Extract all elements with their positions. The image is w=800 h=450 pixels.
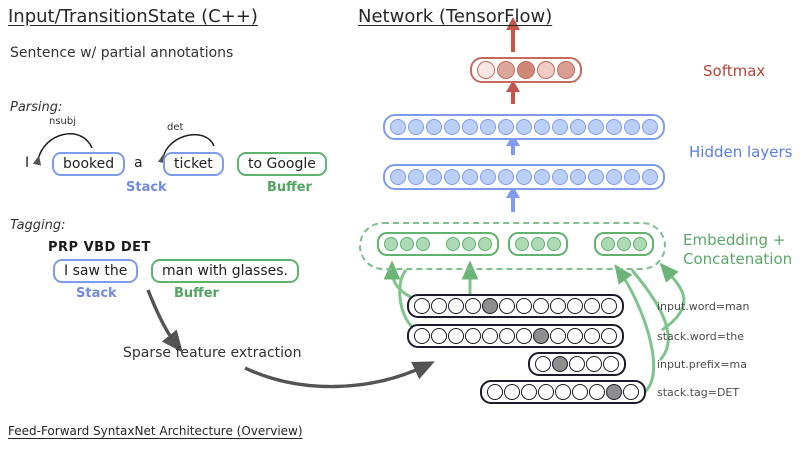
neuron — [516, 169, 532, 185]
neuron — [465, 298, 481, 314]
neuron — [480, 119, 496, 135]
neuron — [416, 237, 430, 251]
neuron — [588, 119, 604, 135]
neuron — [516, 328, 532, 344]
neuron — [390, 169, 406, 185]
neuron — [515, 237, 529, 251]
neuron — [426, 169, 442, 185]
neuron — [642, 169, 658, 185]
neuron — [589, 384, 605, 400]
neuron — [499, 298, 515, 314]
arc-label-det: det — [167, 122, 183, 133]
neuron — [624, 119, 640, 135]
neuron — [462, 237, 476, 251]
neuron — [431, 328, 447, 344]
neuron — [550, 298, 566, 314]
neuron — [482, 328, 498, 344]
parsing-stack-box-ticket[interactable]: ticket — [163, 152, 224, 176]
neuron — [570, 119, 586, 135]
neuron — [552, 169, 568, 185]
neuron — [584, 298, 600, 314]
hidden-layers-label: Hidden layers — [689, 143, 792, 161]
parsing-stack-box-booked[interactable]: booked — [52, 152, 125, 176]
neuron — [642, 119, 658, 135]
neuron — [482, 298, 498, 314]
feature-vector-4[interactable] — [480, 380, 646, 404]
neuron — [584, 328, 600, 344]
neuron — [390, 119, 406, 135]
neuron — [497, 61, 515, 79]
neuron — [557, 61, 575, 79]
neuron — [633, 237, 647, 251]
softmax-layer[interactable] — [470, 57, 582, 83]
neuron — [480, 169, 496, 185]
sparse-arrow-in — [148, 290, 176, 344]
neuron — [477, 61, 495, 79]
neuron — [624, 169, 640, 185]
tagging-tags: PRP VBD DET — [48, 240, 151, 255]
neuron — [606, 119, 622, 135]
tagging-stack-label: Stack — [76, 286, 117, 301]
neuron — [623, 384, 639, 400]
neuron — [400, 237, 414, 251]
embedding-label: Embedding + Concatenation — [683, 231, 792, 269]
neuron — [537, 61, 555, 79]
feature-label-3: input.prefix=ma — [657, 358, 747, 371]
neuron — [601, 237, 615, 251]
neuron — [572, 384, 588, 400]
neuron — [533, 328, 549, 344]
right-heading: Network (TensorFlow) — [358, 6, 552, 27]
feature-label-1: input.word=man — [657, 300, 749, 313]
neuron — [487, 384, 503, 400]
embedding-label-line2: Concatenation — [683, 250, 792, 269]
neuron — [606, 169, 622, 185]
neuron — [588, 169, 604, 185]
tagging-buffer-label: Buffer — [174, 286, 219, 301]
hidden-layer-2[interactable] — [383, 164, 665, 190]
neuron — [408, 119, 424, 135]
neuron — [533, 298, 549, 314]
neuron — [426, 119, 442, 135]
arc-label-nsubj: nsubj — [49, 116, 76, 127]
neuron — [521, 384, 537, 400]
neuron — [567, 328, 583, 344]
embedding-group-3[interactable] — [594, 232, 654, 256]
neuron — [462, 169, 478, 185]
parsing-buffer-box[interactable]: to Google — [237, 152, 327, 176]
neuron — [384, 237, 398, 251]
neuron — [499, 328, 515, 344]
neuron — [601, 298, 617, 314]
neuron — [446, 237, 460, 251]
neuron — [517, 61, 535, 79]
hidden-layer-1[interactable] — [383, 114, 665, 140]
neuron — [552, 119, 568, 135]
neuron — [550, 328, 566, 344]
neuron — [569, 356, 585, 372]
neuron — [516, 298, 532, 314]
neuron — [601, 328, 617, 344]
neuron — [538, 384, 554, 400]
neuron — [531, 237, 545, 251]
neuron — [504, 384, 520, 400]
subtitle: Sentence w/ partial annotations — [10, 45, 233, 61]
feature-vector-3[interactable] — [528, 352, 626, 376]
neuron — [535, 356, 551, 372]
left-heading: Input/TransitionState (C++) — [8, 6, 258, 27]
tagging-section-label: Tagging: — [10, 218, 66, 233]
neuron — [603, 356, 619, 372]
neuron — [606, 384, 622, 400]
neuron — [516, 119, 532, 135]
figure-caption: Feed-Forward SyntaxNet Architecture (Ove… — [8, 424, 303, 438]
neuron — [448, 328, 464, 344]
neuron — [498, 169, 514, 185]
tagging-stack-box[interactable]: I saw the — [53, 259, 138, 283]
neuron — [431, 298, 447, 314]
parsing-stack-label: Stack — [126, 180, 167, 195]
parsing-token-i: I — [25, 155, 29, 171]
neuron — [552, 356, 568, 372]
embedding-label-line1: Embedding + — [683, 231, 792, 250]
neuron — [547, 237, 561, 251]
parsing-buffer-label: Buffer — [267, 180, 312, 195]
neuron — [462, 119, 478, 135]
sparse-feature-extraction-label: Sparse feature extraction — [123, 345, 301, 361]
feature-label-2: stack.word=the — [657, 330, 744, 343]
parsing-token-a: a — [134, 155, 143, 171]
neuron — [465, 328, 481, 344]
parsing-section-label: Parsing: — [10, 100, 62, 115]
embedding-group-1[interactable] — [377, 232, 499, 256]
feature-label-4: stack.tag=DET — [657, 386, 739, 399]
neuron — [555, 384, 571, 400]
softmax-label: Softmax — [703, 62, 765, 80]
tagging-buffer-box[interactable]: man with glasses. — [151, 259, 299, 283]
neuron — [498, 119, 514, 135]
neuron — [408, 169, 424, 185]
neuron — [414, 328, 430, 344]
embedding-group-2[interactable] — [508, 232, 568, 256]
neuron — [567, 298, 583, 314]
neuron — [534, 119, 550, 135]
neuron — [570, 169, 586, 185]
feature-vector-1[interactable] — [407, 294, 624, 318]
neuron — [586, 356, 602, 372]
neuron — [534, 169, 550, 185]
neuron — [444, 119, 460, 135]
feature-vector-2[interactable] — [407, 324, 624, 348]
neuron — [414, 298, 430, 314]
neuron — [448, 298, 464, 314]
neuron — [444, 169, 460, 185]
neuron — [478, 237, 492, 251]
neuron — [617, 237, 631, 251]
sparse-arrow-out — [245, 366, 425, 387]
